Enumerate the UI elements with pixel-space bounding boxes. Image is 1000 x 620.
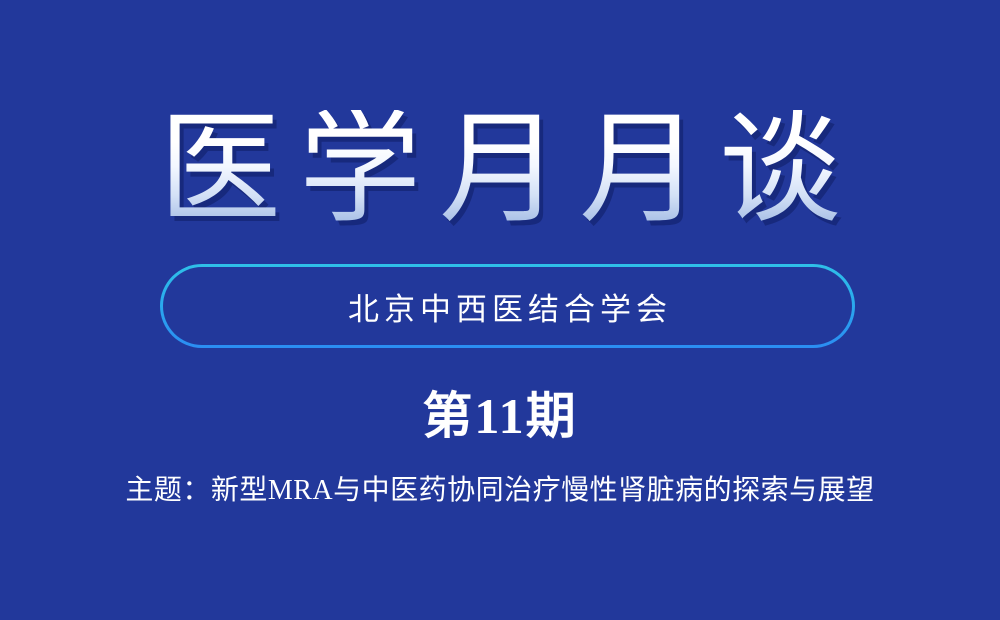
main-title-block: 医学月月谈 xyxy=(0,96,1000,246)
organization-pill-inner: 北京中西医结合学会 xyxy=(163,267,852,345)
poster-root: 医学月月谈 北京中西医结合学会 第11期 主题：新型MRA与中医药协同治疗慢性肾… xyxy=(0,0,1000,620)
page-title: 医学月月谈 xyxy=(141,110,859,232)
issue-number: 第11期 xyxy=(0,388,1000,446)
organization-pill: 北京中西医结合学会 xyxy=(160,264,855,348)
organization-name: 北京中西医结合学会 xyxy=(343,284,672,329)
subject-line: 主题：新型MRA与中医药协同治疗慢性肾脏病的探索与展望 xyxy=(0,472,1000,510)
